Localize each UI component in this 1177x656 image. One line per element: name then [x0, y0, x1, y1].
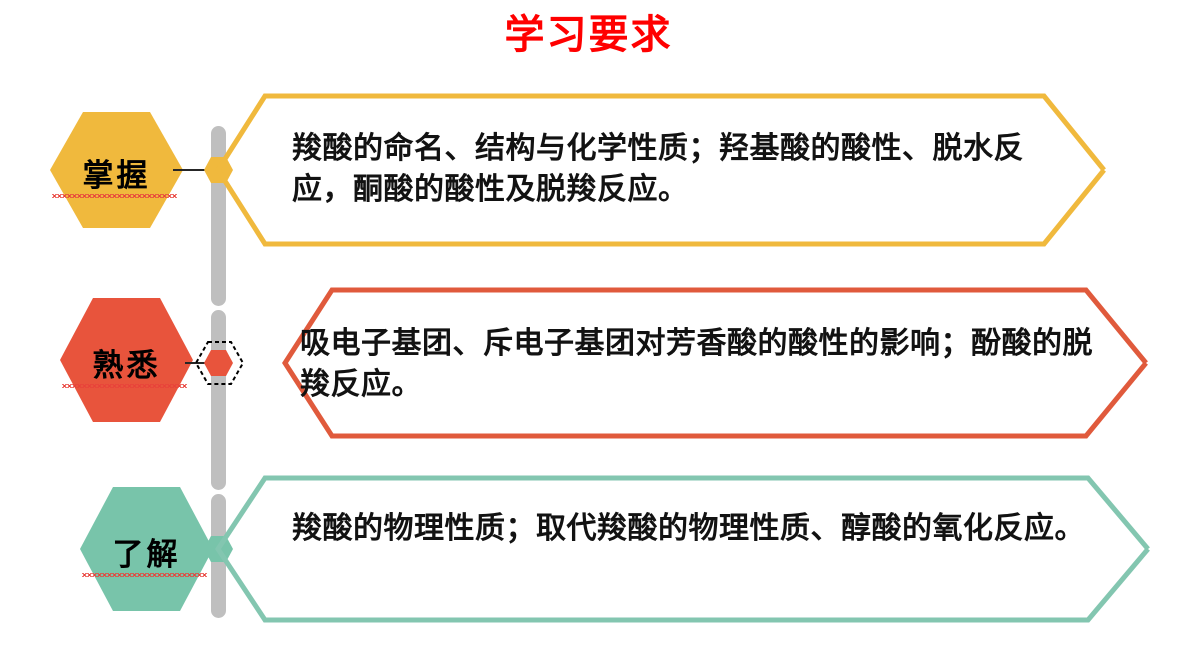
callout-text-2: 吸电子基团、斥电子基团对芳香酸的酸性的影响；酚酸的脱羧反应。	[300, 323, 1100, 406]
category-badge-label-1: 掌握	[50, 150, 183, 195]
timeline-bar-segment-2	[211, 310, 226, 490]
spellcheck-squiggle-1	[52, 194, 177, 198]
callout-text-3: 羧酸的物理性质；取代羧酸的物理性质、醇酸的氧化反应。	[292, 508, 1092, 549]
callout-text-1: 羧酸的命名、结构与化学性质；羟基酸的酸性、脱水反应，酮酸的酸性及脱羧反应。	[292, 128, 1082, 211]
category-badge-text-1: 掌握	[83, 158, 151, 194]
category-badge-label-2: 熟悉	[60, 340, 193, 385]
category-badge-label-3: 了解	[80, 529, 213, 574]
timeline-bar-segment-1	[211, 126, 226, 306]
timeline-node-2[interactable]	[204, 350, 233, 376]
spellcheck-squiggle-2	[62, 384, 187, 388]
category-badge-text-2: 熟悉	[93, 348, 161, 384]
slide-canvas: 学习要求	[0, 0, 1177, 656]
category-badge-text-3: 了解	[113, 537, 181, 573]
spellcheck-squiggle-3	[82, 573, 207, 577]
